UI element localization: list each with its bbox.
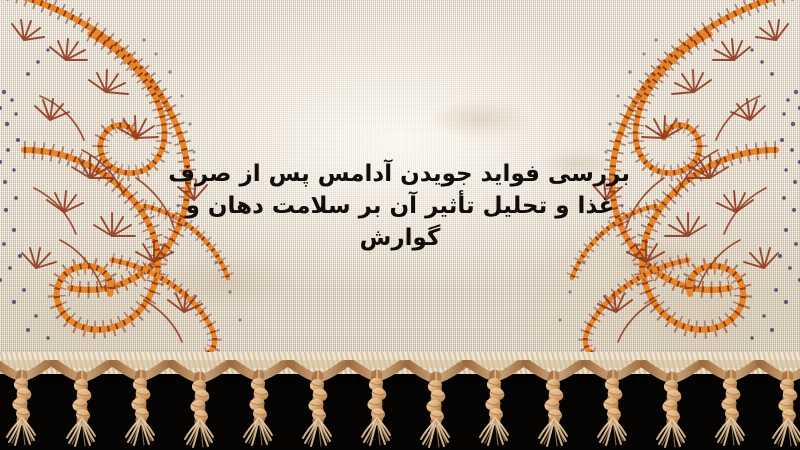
tassel-fringe	[0, 360, 800, 450]
title-line-2: غذا و تحلیل تأثیر آن بر سلامت دهان و	[170, 190, 630, 222]
page-title: بررسی فواید جویدن آدامس پس از صرف غذا و …	[170, 158, 630, 254]
title-line-1: بررسی فواید جویدن آدامس پس از صرف	[170, 158, 630, 190]
title-card-image: بررسی فواید جویدن آدامس پس از صرف غذا و …	[0, 0, 800, 450]
title-line-3: گوارش	[170, 222, 630, 254]
